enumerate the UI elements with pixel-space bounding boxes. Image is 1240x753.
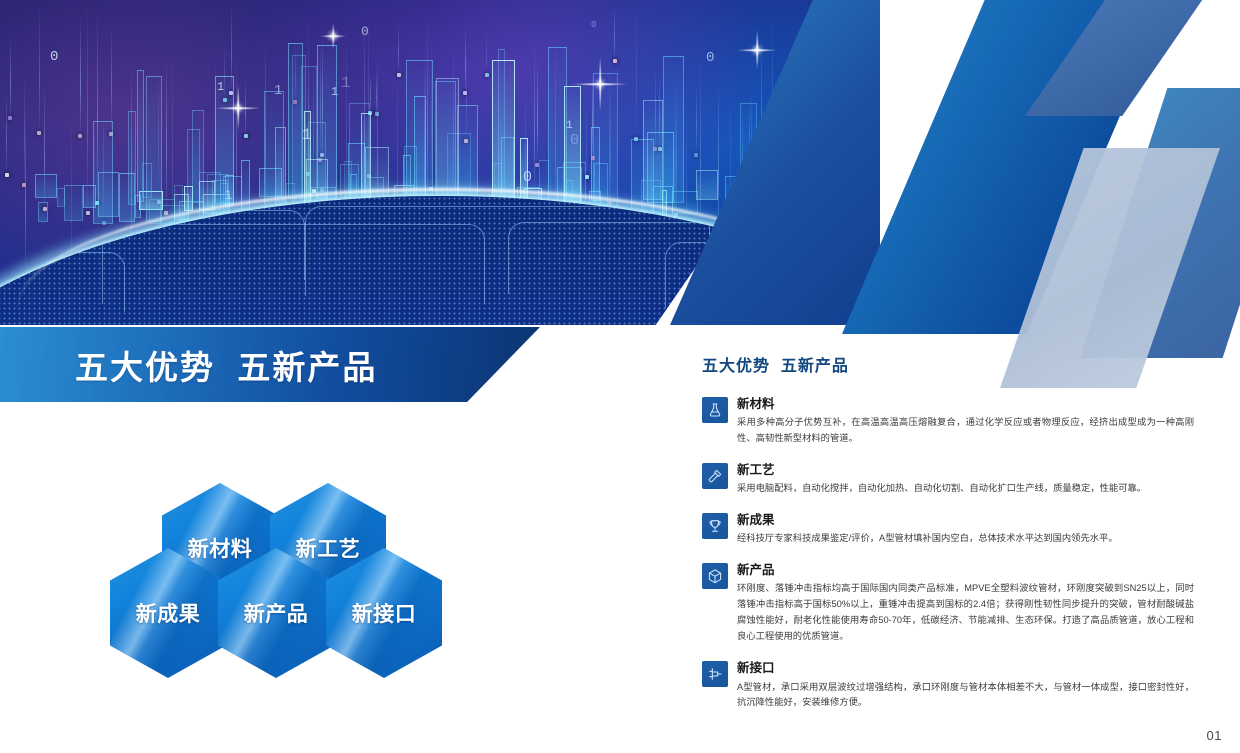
feature-item-new-product: 新产品 环刚度、落锤冲击指标均高于国际国内同类产品标准，MPVE全塑料波纹管材，… xyxy=(702,561,1194,645)
feature-title: 新工艺 xyxy=(737,461,1194,479)
feature-item-new-interface: 新接口 A型管材，承口采用双层波纹过增强结构，承口环刚度与管材本体相差不大，与管… xyxy=(702,659,1194,711)
flask-icon xyxy=(702,397,728,423)
feature-body: 采用电脑配料，自动化搅拌，自动化加热、自动化切割、自动化扩口生产线，质量稳定，性… xyxy=(737,481,1194,497)
hexagon-label: 新接口 xyxy=(352,598,417,628)
pipe-joint-icon xyxy=(702,661,728,687)
feature-title: 新产品 xyxy=(737,561,1194,579)
cube-icon xyxy=(702,563,728,589)
trophy-icon xyxy=(702,513,728,539)
banner-title-text: 五大优势 五新产品 xyxy=(75,341,377,389)
feature-body: 采用多种高分子优势互补，在高温高温高压熔融复合，通过化学反应或者物理反应，经挤出… xyxy=(737,415,1194,447)
feature-item-new-material: 新材料 采用多种高分子优势互补，在高温高温高压熔融复合，通过化学反应或者物理反应… xyxy=(702,395,1194,447)
hammer-icon xyxy=(702,463,728,489)
hero-banner-image: 1011101100100110 xyxy=(0,0,880,325)
page-number: 01 xyxy=(1207,728,1222,743)
feature-panel-title: 五大优势 五新产品 xyxy=(702,352,1194,376)
feature-body: 环刚度、落锤冲击指标均高于国际国内同类产品标准，MPVE全塑料波纹管材，环刚度突… xyxy=(737,581,1194,645)
hexagon-label: 新成果 xyxy=(136,598,201,628)
feature-panel: 五大优势 五新产品 新材料 采用多种高分子优势互补，在高温高温高压熔融复合，通过… xyxy=(702,352,1194,725)
feature-title: 新成果 xyxy=(737,511,1194,529)
feature-item-new-achievement: 新成果 经科技厅专家科技成果鉴定/评价，A型管材填补国内空白，总体技术水平达到国… xyxy=(702,511,1194,547)
hexagon-label: 新材料 xyxy=(188,533,253,563)
feature-body: A型管材，承口采用双层波纹过增强结构，承口环刚度与管材本体相差不大，与管材一体成… xyxy=(737,680,1194,712)
hexagon-label: 新产品 xyxy=(244,598,309,628)
hexagon-label: 新工艺 xyxy=(296,533,361,563)
feature-body: 经科技厅专家科技成果鉴定/评价，A型管材填补国内空白，总体技术水平达到国内领先水… xyxy=(737,531,1194,547)
hexagon-cluster: 新材料 新工艺 新成果 新产品 新接口 xyxy=(110,483,420,678)
feature-title: 新材料 xyxy=(737,395,1194,413)
feature-title: 新接口 xyxy=(737,659,1194,677)
feature-item-new-process: 新工艺 采用电脑配料，自动化搅拌，自动化加热、自动化切割、自动化扩口生产线，质量… xyxy=(702,461,1194,497)
section-title-banner: 五大优势 五新产品 xyxy=(0,327,540,402)
